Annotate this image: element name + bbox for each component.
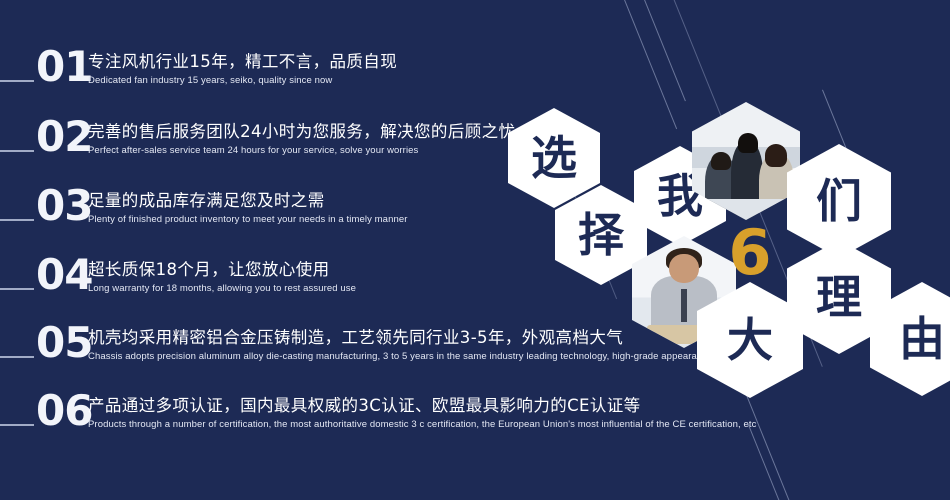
banner-canvas: 01 专注风机行业15年，精工不言，品质自现 Dedicated fan ind… (0, 0, 950, 500)
reason-text: 超长质保18个月，让您放心使用 Long warranty for 18 mon… (88, 260, 356, 295)
reason-number: 01 (36, 46, 92, 88)
reason-number: 02 (36, 116, 92, 158)
reason-subtitle-en: Dedicated fan industry 15 years, seiko, … (88, 75, 397, 87)
reason-dash-icon (0, 288, 34, 290)
reason-subtitle-en: Chassis adopts precision aluminum alloy … (88, 351, 766, 363)
reason-number: 06 (36, 390, 92, 432)
reason-subtitle-en: Plenty of finished product inventory to … (88, 214, 407, 226)
reason-text: 足量的成品库存满足您及时之需 Plenty of finished produc… (88, 191, 407, 226)
reason-headline-cn: 专注风机行业15年，精工不言，品质自现 (88, 52, 397, 73)
reason-text: 产品通过多项认证，国内最具权威的3C认证、欧盟最具影响力的CE认证等 Produ… (88, 396, 756, 431)
reason-dash-icon (0, 80, 34, 82)
reason-number: 04 (36, 254, 92, 296)
reason-text: 完善的售后服务团队24小时为您服务，解决您的后顾之忧 Perfect after… (88, 122, 515, 157)
reason-headline-cn: 超长质保18个月，让您放心使用 (88, 260, 356, 281)
reason-headline-cn: 完善的售后服务团队24小时为您服务，解决您的后顾之忧 (88, 122, 515, 143)
hex-cell-you[interactable]: 由 (870, 282, 950, 396)
reason-headline-cn: 足量的成品库存满足您及时之需 (88, 191, 407, 212)
reason-subtitle-en: Products through a number of certificati… (88, 419, 756, 431)
reason-dash-icon (0, 424, 34, 426)
reason-subtitle-en: Perfect after-sales service team 24 hour… (88, 145, 515, 157)
hex-glyph: 们 (816, 178, 862, 224)
hex-glyph: 大 (727, 317, 773, 363)
reason-dash-icon (0, 356, 34, 358)
reason-dash-icon (0, 150, 34, 152)
reason-headline-cn: 产品通过多项认证，国内最具权威的3C认证、欧盟最具影响力的CE认证等 (88, 396, 756, 417)
hex-glyph: 选 (531, 135, 577, 181)
reason-subtitle-en: Long warranty for 18 months, allowing yo… (88, 283, 356, 295)
reason-number: 05 (36, 322, 92, 364)
hex-glyph: 择 (578, 212, 624, 258)
hex-glyph: 由 (899, 316, 945, 362)
reason-text: 专注风机行业15年，精工不言，品质自现 Dedicated fan indust… (88, 52, 397, 87)
hex-glyph-accent: 6 (728, 222, 771, 284)
reason-dash-icon (0, 219, 34, 221)
hex-glyph: 理 (816, 274, 862, 320)
reason-number: 03 (36, 185, 92, 227)
